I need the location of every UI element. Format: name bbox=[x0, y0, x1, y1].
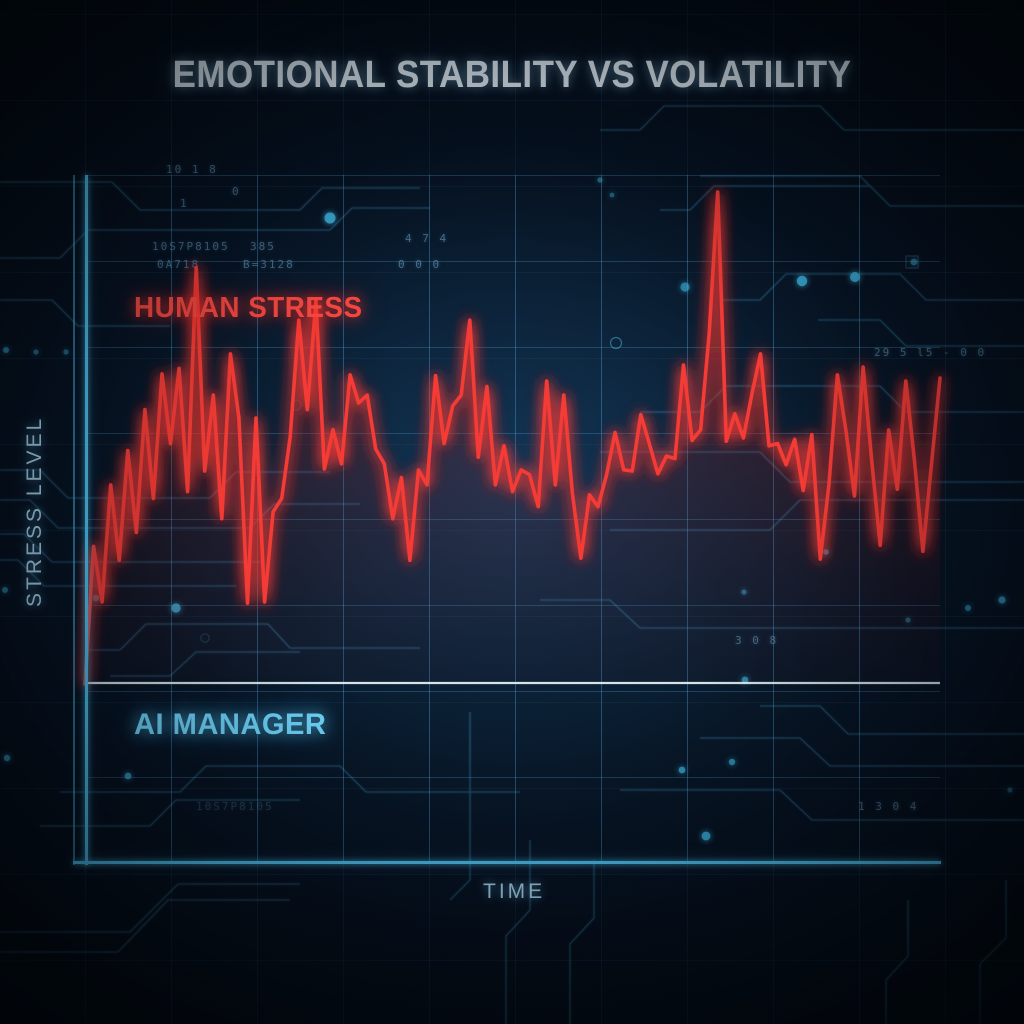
series-label-human-stress: HUMAN STRESS bbox=[134, 292, 362, 325]
series-layer bbox=[0, 0, 1024, 1024]
y-axis bbox=[85, 175, 88, 865]
x-axis bbox=[73, 861, 941, 864]
chart-title: EMOTIONAL STABILITY VS VOLATILITY bbox=[41, 54, 983, 97]
chart-canvas: 10 1 8 0 1 10S7P8105 0A718 385 B=3128 4 … bbox=[0, 0, 1024, 1024]
y-axis-label: STRESS LEVEL bbox=[23, 427, 47, 607]
y-axis-secondary bbox=[73, 175, 75, 865]
series-label-ai-manager: AI MANAGER bbox=[134, 708, 326, 742]
x-axis-label: TIME bbox=[483, 880, 545, 904]
